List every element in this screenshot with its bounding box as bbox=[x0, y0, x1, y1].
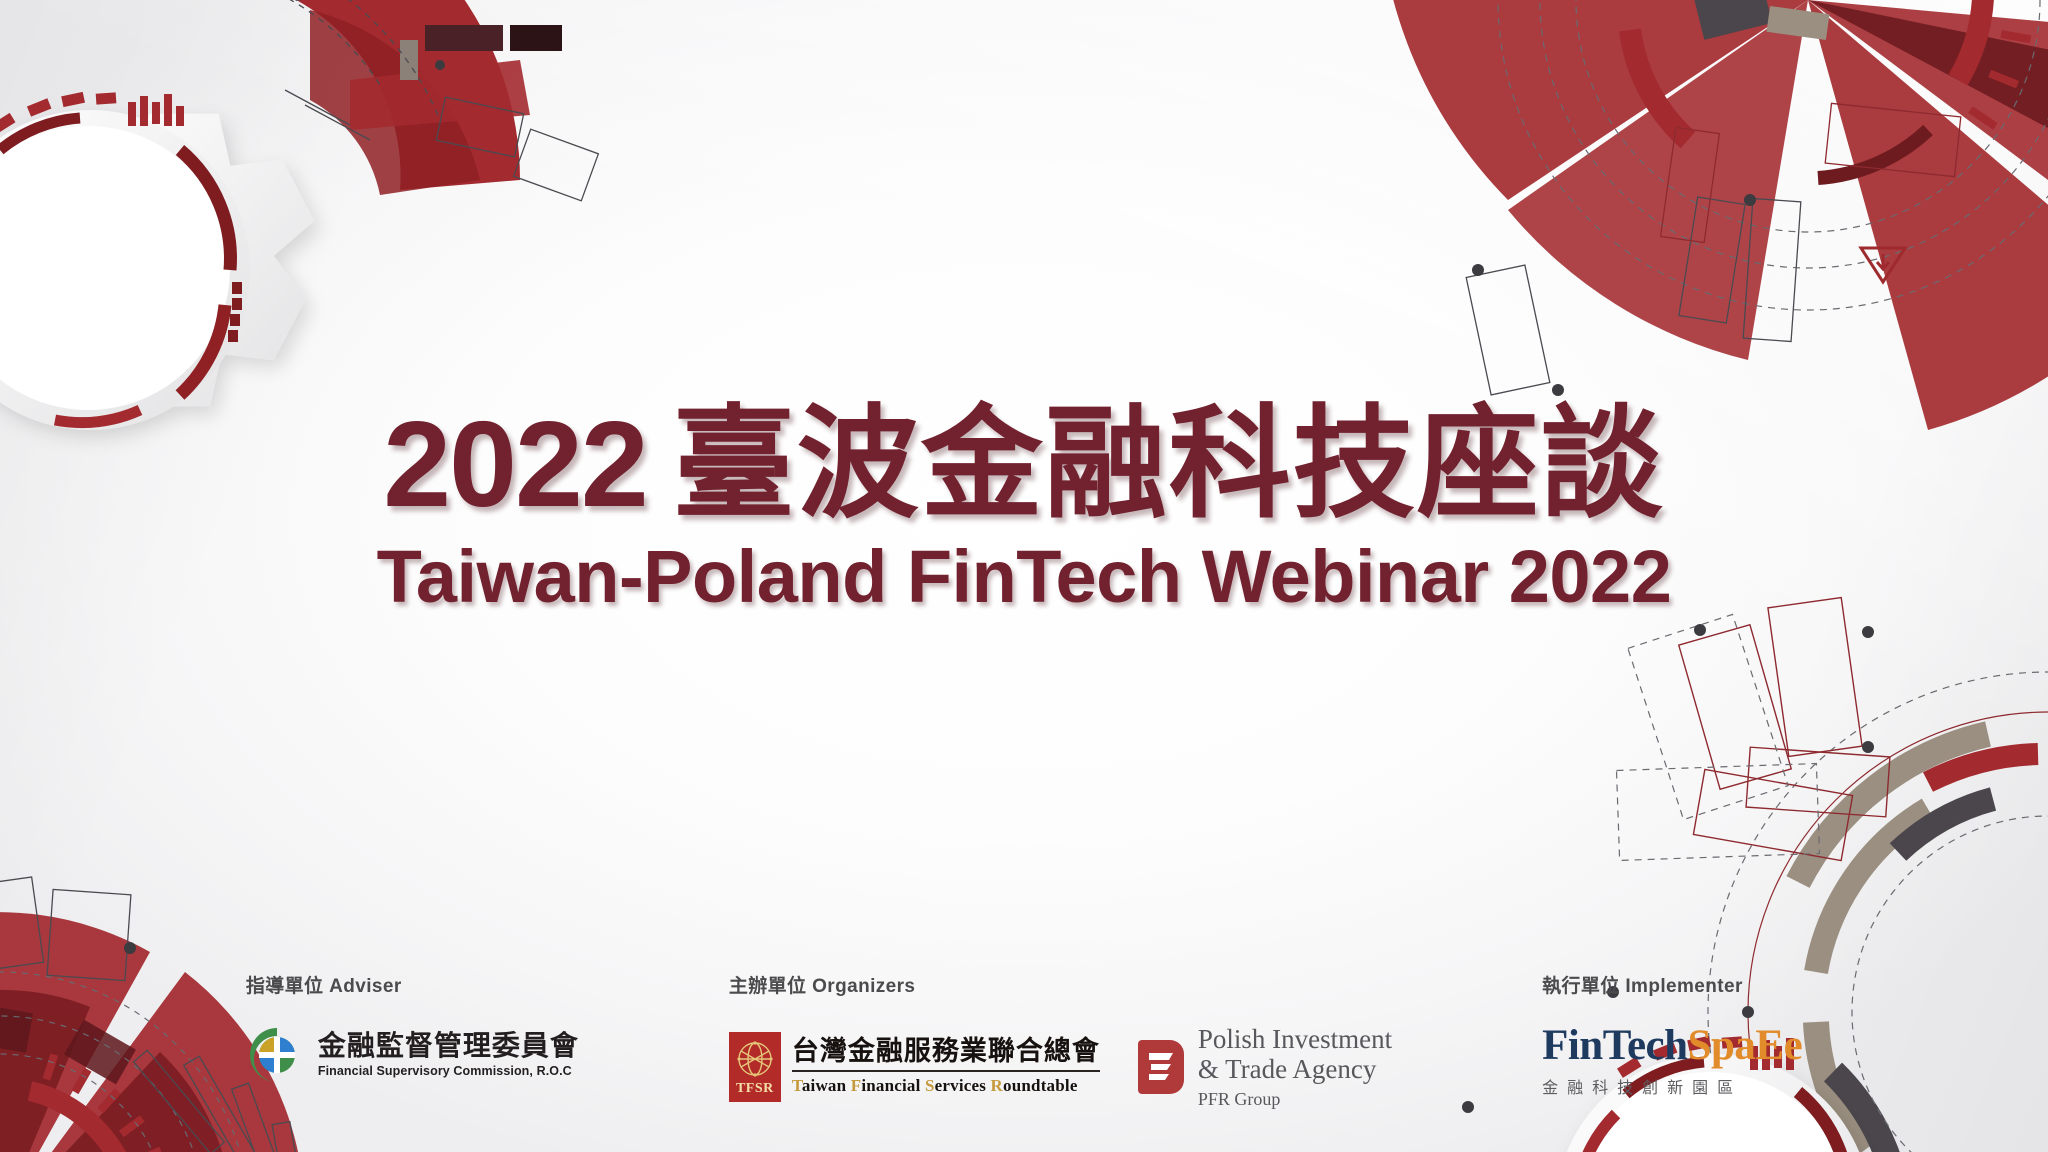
logo-tfsr: TFSR 台灣金融服務業聯合總會 Taiwan Financial Servic… bbox=[729, 1032, 1100, 1102]
logo-fsc: 金融監督管理委員會 Financial Supervisory Commissi… bbox=[246, 1024, 579, 1086]
gear-wheel-icon bbox=[0, 110, 314, 430]
radial-wedges bbox=[1378, 0, 2048, 430]
outline-plates-tr bbox=[1325, 0, 2048, 395]
tfsr-abbr: TFSR bbox=[736, 1081, 774, 1097]
logo-pfr: Polish Investment & Trade Agency PFR Gro… bbox=[1138, 1024, 1392, 1110]
sponsor-group-organizers: 主辦單位 Organizers bbox=[729, 971, 1392, 1110]
gray-accents bbox=[1653, 0, 1829, 40]
page-subtitle: Taiwan-Poland FinTech Webinar 2022 bbox=[0, 538, 2048, 616]
inner-ring bbox=[1630, 0, 1983, 140]
poster-canvas: 2022臺波金融科技座談 Taiwan-Poland FinTech Webin… bbox=[0, 0, 2048, 1152]
logo-fintechspace: FinTechSpaEe 金融科技創新園區 bbox=[1542, 1024, 1802, 1098]
ring-ticks bbox=[1596, 0, 2032, 130]
sponsor-group-implementer: 執行單位 Implementer FinTechSpaEe 金融科技創新園區 bbox=[1542, 971, 1802, 1098]
title-chinese: 臺波金融科技座談 bbox=[673, 396, 1665, 532]
outline-plates bbox=[210, 0, 598, 201]
pfr-line-3: PFR Group bbox=[1198, 1089, 1392, 1110]
fsc-emblem-icon bbox=[246, 1024, 308, 1086]
node-dots bbox=[1322, 0, 2048, 406]
down-arrow-badge bbox=[1861, 248, 1905, 282]
tfsr-emblem: TFSR bbox=[729, 1032, 781, 1102]
fts-word-space: SpaEe bbox=[1688, 1022, 1803, 1069]
fts-word-fin: Fin bbox=[1542, 1022, 1603, 1069]
gray-accents-bl bbox=[0, 1143, 132, 1152]
gear-arc-ticks bbox=[0, 92, 242, 423]
fsc-name-en: Financial Supervisory Commission, R.O.C bbox=[318, 1065, 579, 1078]
pfr-stripes-icon bbox=[1138, 1040, 1184, 1094]
group-label-implementer: 執行單位 Implementer bbox=[1542, 971, 1802, 998]
sponsor-group-adviser: 指導單位 Adviser bbox=[246, 971, 579, 1086]
fts-wordmark: FinTechSpaEe bbox=[1542, 1024, 1802, 1067]
tfsr-divider bbox=[792, 1070, 1100, 1072]
pfr-emblem-icon bbox=[1138, 1040, 1184, 1094]
fts-subtitle-cn: 金融科技創新園區 bbox=[1542, 1074, 1742, 1098]
hero-title-block: 2022臺波金融科技座談 Taiwan-Poland FinTech Webin… bbox=[0, 400, 2048, 616]
pfr-line-2: & Trade Agency bbox=[1198, 1054, 1392, 1084]
group-label-adviser: 指導單位 Adviser bbox=[246, 971, 579, 998]
outline-plates-br bbox=[1679, 598, 1890, 861]
fts-word-tech: Tech bbox=[1603, 1022, 1688, 1069]
fsc-name-cn: 金融監督管理委員會 bbox=[318, 1032, 579, 1060]
tfsr-name-cn: 台灣金融服務業聯合總會 bbox=[792, 1038, 1100, 1065]
pfr-line-1: Polish Investment bbox=[1198, 1024, 1392, 1054]
page-title: 2022臺波金融科技座談 bbox=[0, 400, 2048, 528]
tfsr-name-en: Taiwan Financial Services Roundtable bbox=[792, 1076, 1100, 1096]
sponsor-footer: 指導單位 Adviser bbox=[0, 971, 2048, 1110]
dashed-arcs bbox=[1498, 0, 2048, 310]
red-fan-shapes bbox=[85, 0, 562, 195]
title-year: 2022 bbox=[383, 396, 646, 532]
tfsr-globe-icon bbox=[734, 1037, 776, 1083]
group-label-organizers: 主辦單位 Organizers bbox=[729, 971, 1392, 998]
